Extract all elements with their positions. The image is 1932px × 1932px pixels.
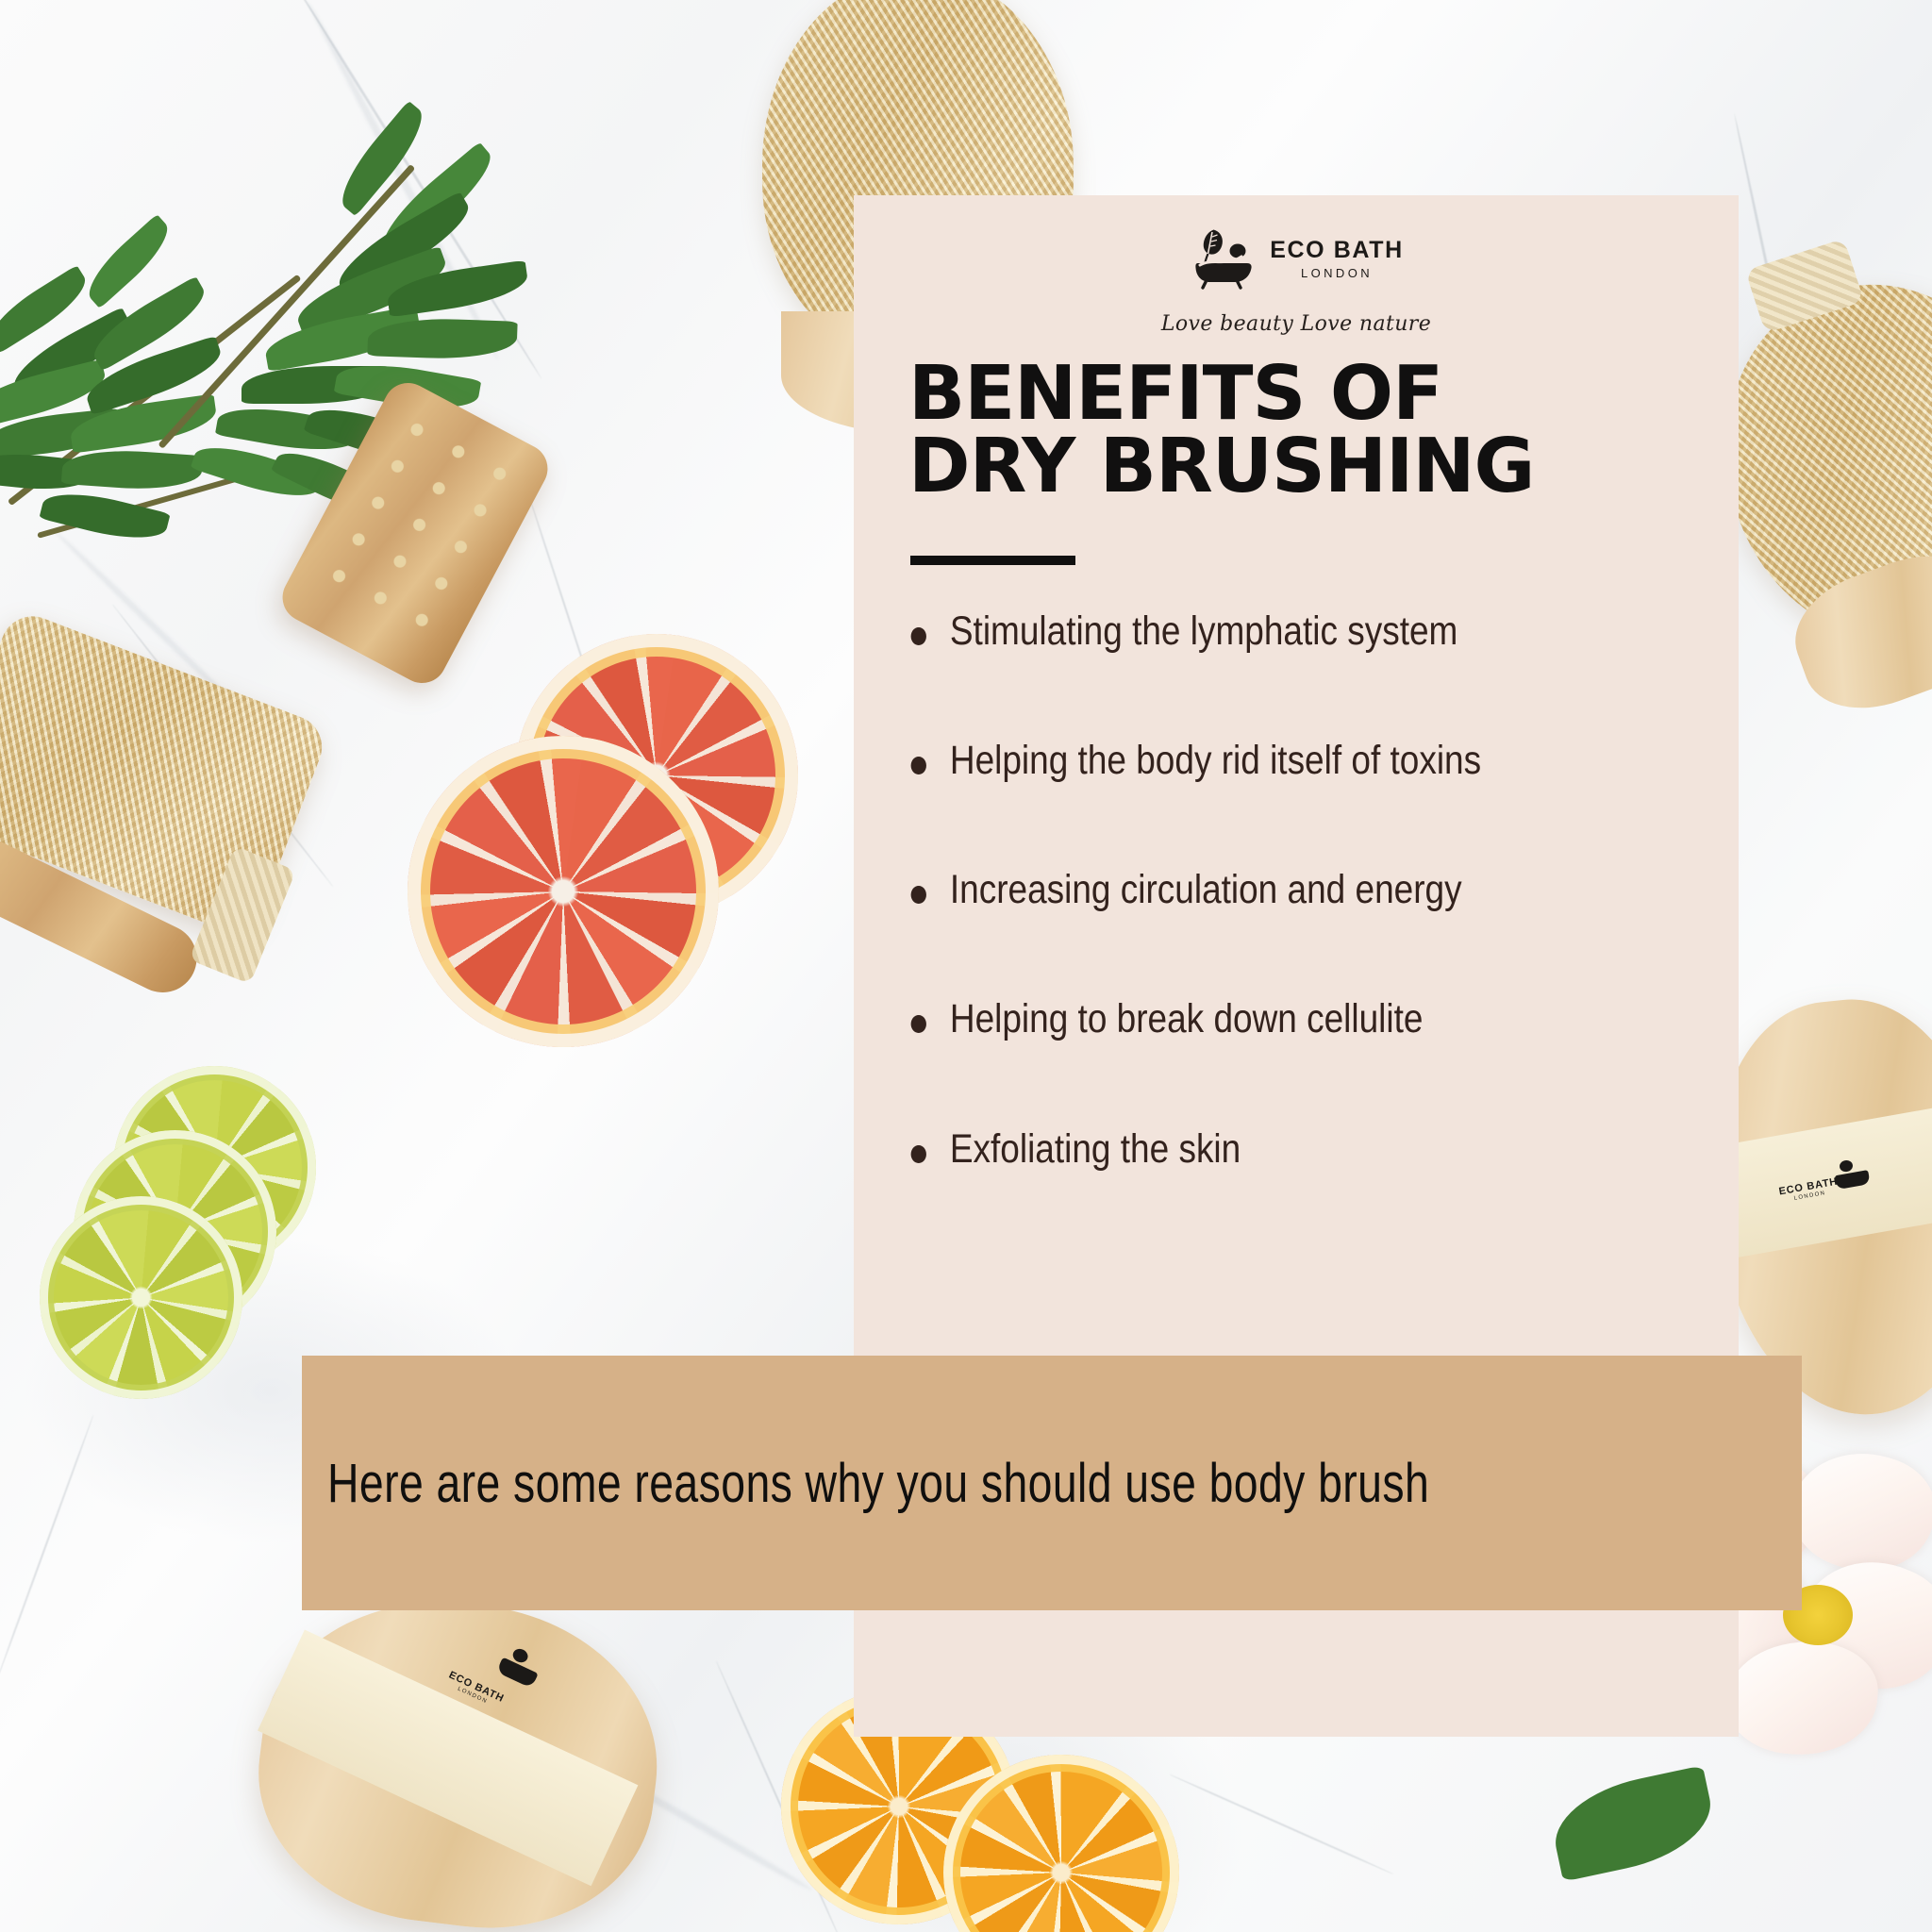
grapefruit-slice-front [408,736,719,1047]
lime-slice-3 [40,1196,242,1399]
strap-bathtub-icon-right [1831,1156,1874,1197]
brand-logo: ECO BATH LONDON Love beauty Love nature [854,227,1739,336]
page-title-line-1: BENEFITS OF [908,358,1534,430]
list-item: Stimulating the lymphatic system [903,610,1597,653]
brand-name: ECO BATH [1270,239,1404,262]
poster-canvas: ECO BATH LONDON ECO BATH LONDON [0,0,1932,1932]
list-item: Increasing circulation and energy [903,869,1597,911]
page-title-line-2: DRY BRUSHING [908,430,1534,503]
title-divider [910,556,1075,565]
caption-banner: Here are some reasons why you should use… [302,1356,1802,1610]
caption-banner-text: Here are some reasons why you should use… [327,1452,1429,1515]
brand-logo-row: ECO BATH LONDON [1189,227,1404,290]
benefits-list: Stimulating the lymphatic system Helping… [903,610,1710,1257]
brand-location: LONDON [1301,267,1373,279]
page-title: BENEFITS OF DRY BRUSHING [908,358,1534,504]
list-item: Helping to break down cellulite [903,998,1597,1041]
brand-logo-text: ECO BATH LONDON [1270,239,1404,279]
brand-tagline: Love beauty Love nature [1161,312,1431,336]
list-item: Helping the body rid itself of toxins [903,740,1597,782]
bathtub-leaf-icon [1189,227,1257,290]
list-item: Exfoliating the skin [903,1128,1597,1171]
